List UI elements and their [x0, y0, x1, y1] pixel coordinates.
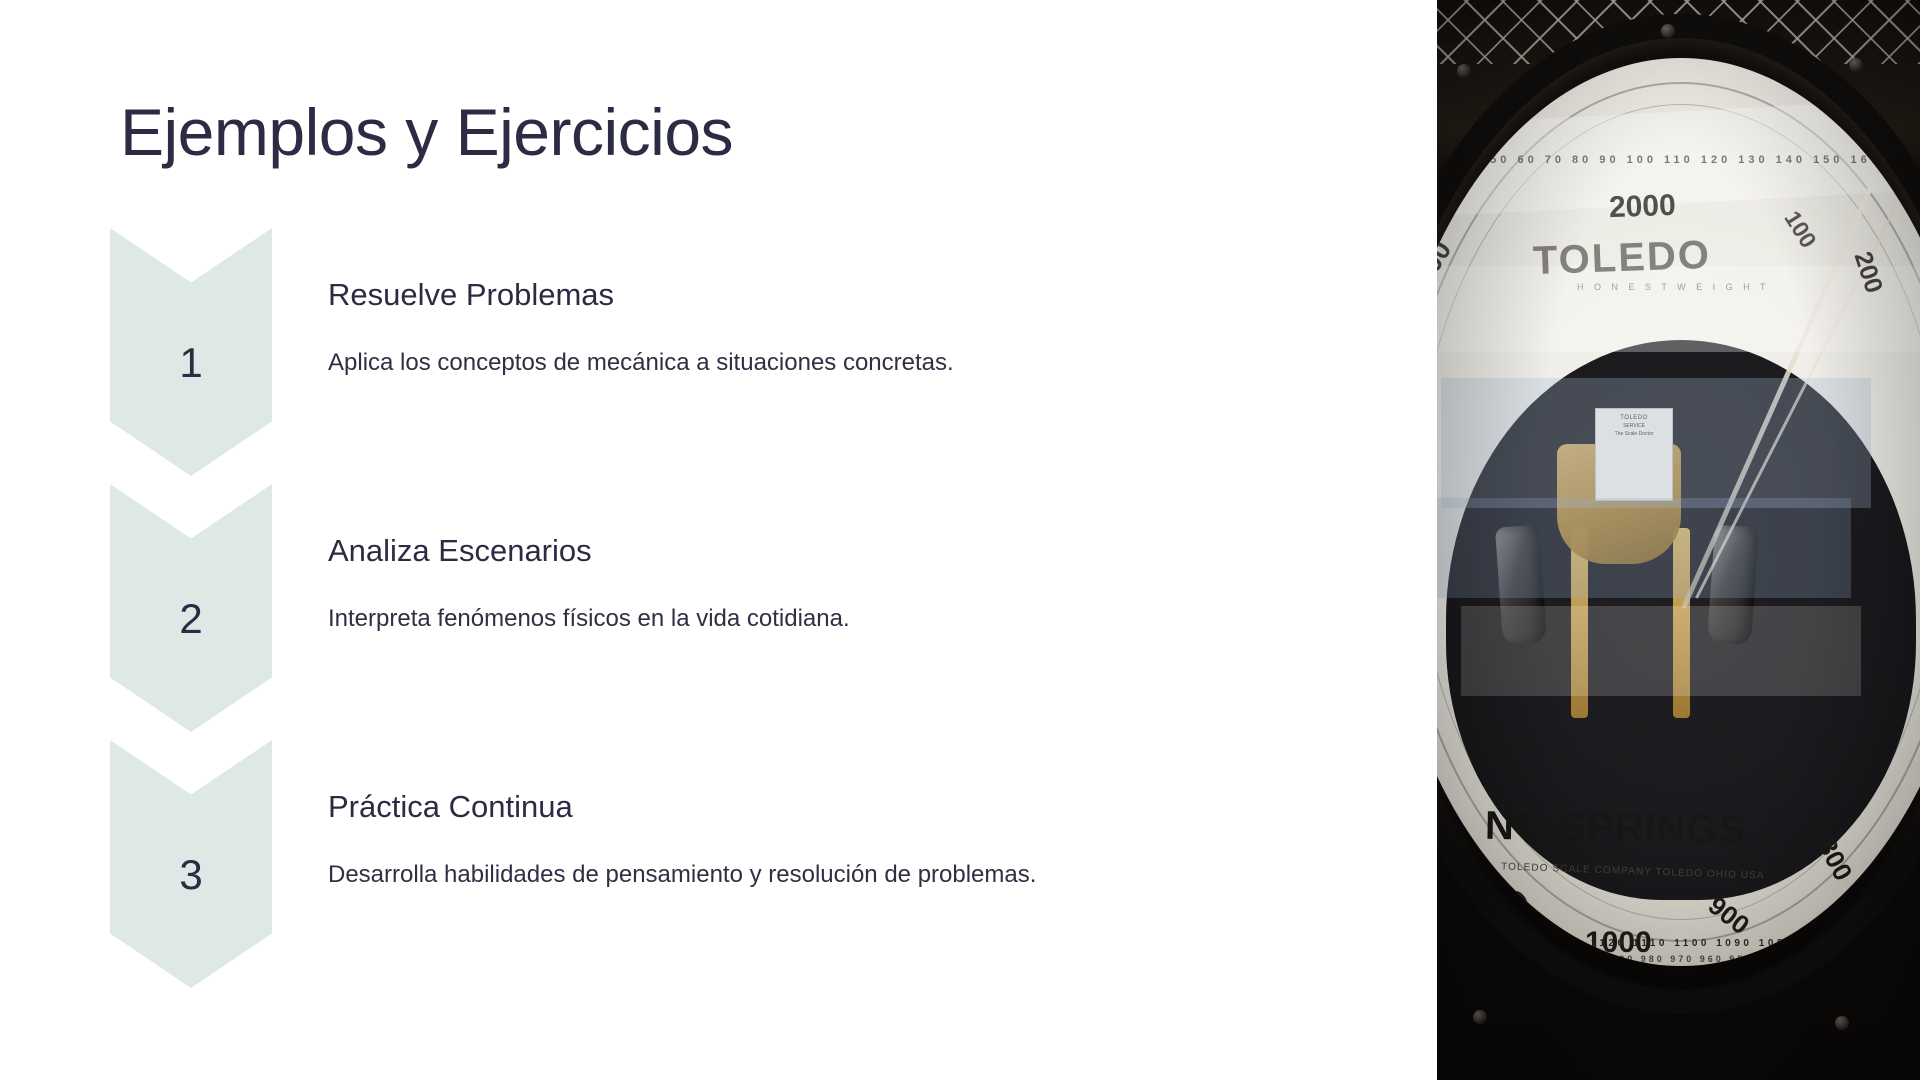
rim-bolt-left [1457, 64, 1471, 78]
step-heading: Resuelve Problemas [328, 276, 1348, 313]
decorative-photo: TOLEDO SERVICE The Scale Doctor 10 20 30… [1437, 0, 1920, 1080]
dial-upper-scale: 10 20 30 40 50 60 70 80 90 100 110 120 1… [1437, 154, 1920, 166]
service-tag-line1: SERVICE [1596, 423, 1672, 431]
dial-minor-scale-bottom: 1030 1020 1010 1000 990 980 970 960 950 … [1437, 954, 1920, 964]
chevron-shape-1: 1 [110, 228, 272, 476]
step-number: 3 [179, 854, 202, 896]
slide-root: Ejemplos y Ejercicios 1 Resuelve Problem… [0, 0, 1920, 1080]
step-body: Interpreta fenómenos físicos en la vida … [328, 603, 1348, 635]
toledo-brand-text: TOLEDO [1532, 233, 1711, 284]
rim-bolt-bottom-left [1473, 1010, 1487, 1024]
step-body: Desarrolla habilidades de pensamiento y … [328, 859, 1348, 891]
scale-dial-face: TOLEDO SERVICE The Scale Doctor 10 20 30… [1437, 58, 1920, 966]
no-springs-slogan: NO SPRINGS [1485, 804, 1747, 854]
step-text-2: Analiza Escenarios Interpreta fenómenos … [328, 532, 1348, 636]
step-text-1: Resuelve Problemas Aplica los conceptos … [328, 276, 1348, 380]
rim-bolt-bottom-right [1835, 1016, 1849, 1030]
service-tag-brand: TOLEDO [1596, 414, 1672, 423]
step-list: 1 Resuelve Problemas Aplica los concepto… [0, 228, 1400, 996]
step-heading: Analiza Escenarios [328, 532, 1348, 569]
service-tag: TOLEDO SERVICE The Scale Doctor [1595, 408, 1673, 501]
step-number: 2 [179, 598, 202, 640]
brass-arm-right [1673, 528, 1690, 718]
list-item[interactable]: 3 Práctica Continua Desarrolla habilidad… [0, 740, 1400, 996]
chevron-shape-2: 2 [110, 484, 272, 732]
rim-bolt-right [1849, 58, 1863, 72]
list-item[interactable]: 2 Analiza Escenarios Interpreta fenómeno… [0, 484, 1400, 740]
dial-number-2000: 2000 [1608, 189, 1676, 225]
toledo-brand-subtext: H O N E S T W E I G H T [1577, 282, 1770, 292]
page-title: Ejemplos y Ejercicios [120, 96, 733, 169]
rim-bolt-top [1661, 24, 1675, 38]
photo-stage: TOLEDO SERVICE The Scale Doctor 10 20 30… [1437, 0, 1920, 1080]
service-tag-line2: The Scale Doctor [1596, 431, 1672, 439]
step-body: Aplica los conceptos de mecánica a situa… [328, 347, 1348, 379]
list-item[interactable]: 1 Resuelve Problemas Aplica los concepto… [0, 228, 1400, 484]
pendulum-weight-left [1495, 525, 1547, 646]
step-heading: Práctica Continua [328, 788, 1348, 825]
step-text-3: Práctica Continua Desarrolla habilidades… [328, 788, 1348, 892]
step-number: 1 [179, 342, 202, 384]
dial-minor-scale-top: 1170 1160 1150 1140 1130 1120 1110 1100 … [1437, 938, 1920, 949]
chevron-shape-3: 3 [110, 740, 272, 988]
